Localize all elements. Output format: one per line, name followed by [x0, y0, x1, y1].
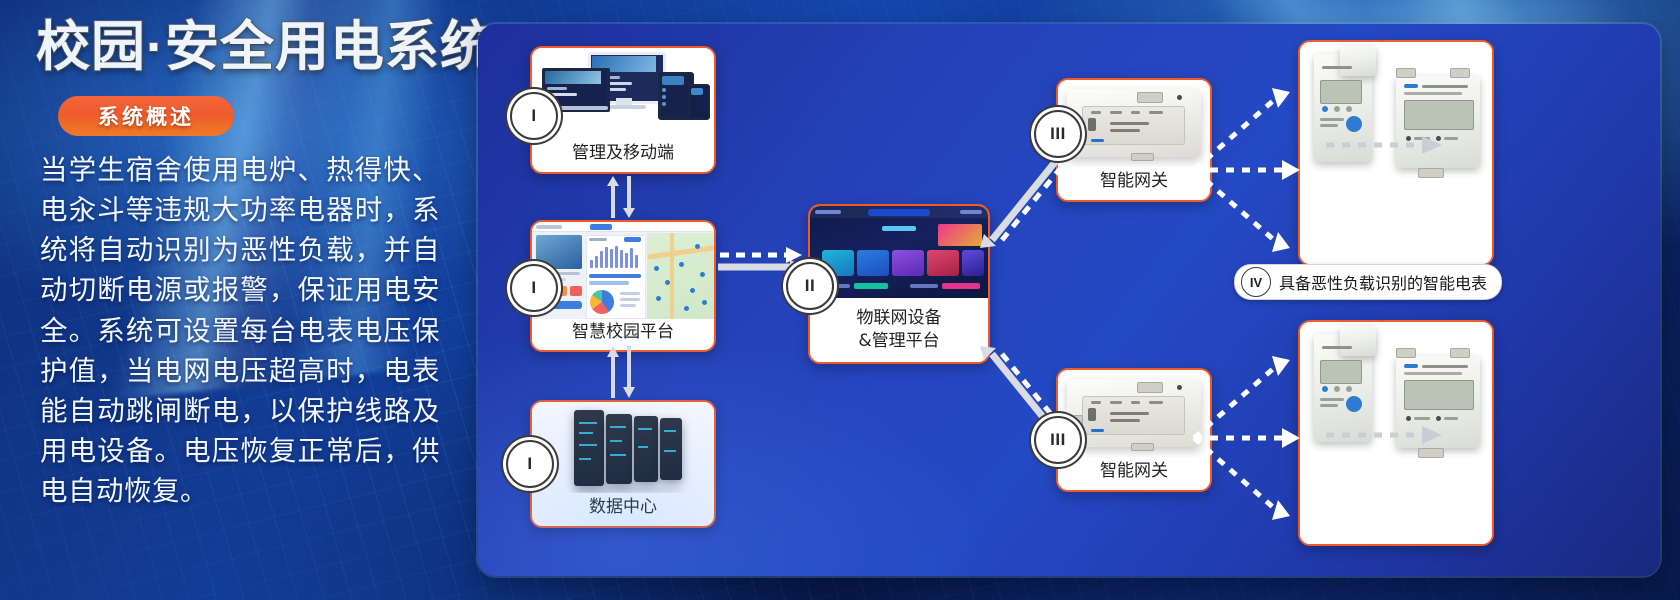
node-iot-platform-caption-line2: &管理平台 [810, 329, 988, 360]
marker-admin-mobile: I [510, 92, 558, 140]
marker-meter-group: IV [1241, 267, 1271, 297]
system-description-text: 当学生宿舍使用电炉、热得快、电汆斗等违规大功率电器时，系统将自动识别为恶性负载，… [40, 150, 440, 511]
node-admin-mobile-card[interactable]: 管理及移动端 [530, 46, 716, 174]
connector-admin-to-campus [598, 174, 644, 220]
admin-mobile-thumbnail [532, 48, 714, 139]
marker-iot-platform: II [786, 262, 834, 310]
marker-smart-campus: I [510, 264, 558, 312]
node-iot-platform-caption-line1: 物联网设备 [810, 298, 988, 329]
left-info-panel: 校园·安全用电系统 系统概述 当学生宿舍使用电炉、热得快、电汆斗等违规大功率电器… [0, 0, 470, 600]
connector-gateway-bottom-to-meters [1190, 346, 1304, 532]
node-data-center-card[interactable]: 数据中心 [530, 400, 716, 528]
architecture-diagram-panel: 管理及移动端 I [478, 24, 1660, 576]
meter-group-label-tag[interactable]: IV 具备恶性负载识别的智能电表 [1234, 264, 1502, 300]
meter-group-label-text: 具备恶性负载识别的智能电表 [1279, 270, 1487, 294]
system-overview-badge-label: 系统概述 [98, 101, 194, 131]
connector-gateway-top-to-meters [1190, 74, 1304, 260]
connector-campus-to-datacenter [598, 344, 644, 400]
marker-gateway-top: III [1034, 110, 1082, 158]
data-center-thumbnail [532, 402, 714, 493]
node-admin-mobile-caption: 管理及移动端 [532, 139, 714, 172]
screenshot-root: 校园·安全用电系统 系统概述 当学生宿舍使用电炉、热得快、电汆斗等违规大功率电器… [0, 0, 1680, 600]
smart-campus-thumbnail [532, 222, 714, 319]
connector-meter-top-inner [1324, 134, 1444, 156]
page-title: 校园·安全用电系统 [36, 16, 495, 79]
marker-gateway-bottom: III [1034, 416, 1082, 464]
iot-platform-thumbnail [810, 206, 988, 298]
system-overview-badge: 系统概述 [58, 96, 234, 136]
node-data-center-caption: 数据中心 [532, 493, 714, 526]
node-iot-platform-card[interactable]: 物联网设备 &管理平台 [808, 204, 990, 364]
marker-data-center: I [506, 440, 554, 488]
connector-meter-bottom-inner [1324, 424, 1444, 446]
